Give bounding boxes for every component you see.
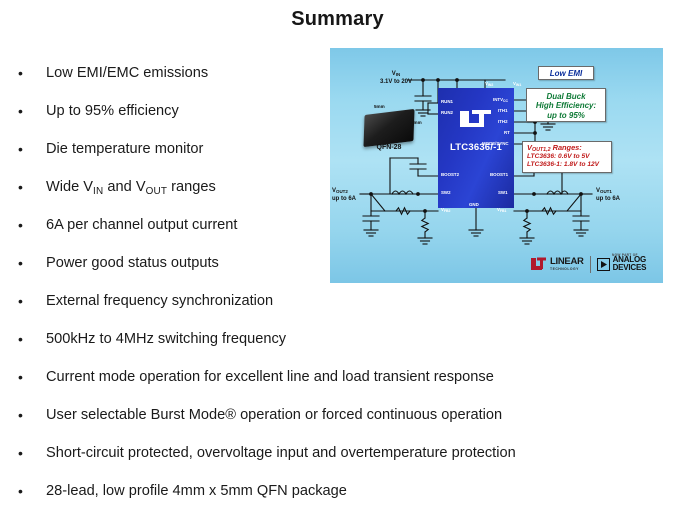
net-label-vout2: VOUT2 up to 6A	[332, 188, 364, 203]
pin-label-sw1: SW1	[498, 190, 508, 195]
adi-now-part-of-text: NOW PART OF	[612, 253, 638, 257]
list-item: • 28-lead, low profile 4mm x 5mm QFN pac…	[14, 472, 662, 510]
callout-efficiency: Dual Buck High Efficiency: up to 95%	[526, 88, 606, 122]
bullet-marker-icon: •	[14, 472, 46, 510]
pin-label-intvcc: INTVCC	[493, 97, 508, 102]
brand-logo-strip: LINEAR TECHNOLOGY ANALOG DEVICES NOW PAR…	[530, 252, 655, 276]
net-label-vout1: VOUT1 up to 6A	[596, 188, 636, 203]
lt-mark-icon	[530, 257, 547, 271]
pin-label-vin2: VIN2	[485, 81, 493, 86]
pin-label-gnd: GND	[469, 202, 479, 207]
callout-low-emi: Low EMI	[538, 66, 594, 80]
pin-label-run1: RUN1	[441, 99, 453, 104]
bullet-marker-icon: •	[14, 168, 46, 206]
bullet-marker-icon: •	[14, 396, 46, 434]
net-label-vout1-current: up to 6A	[596, 196, 636, 204]
adi-wordmark: ANALOG DEVICES	[613, 256, 647, 272]
linear-technology-logo: LINEAR TECHNOLOGY	[530, 257, 584, 271]
pin-label-mode-sync: MODE/SYNC	[482, 141, 509, 146]
callout-ranges-line2: LTC3636-1: 1.8V to 12V	[527, 161, 611, 169]
list-item-label: Current mode operation for excellent lin…	[46, 358, 494, 396]
callout-ranges-title: VOUT1,2 Ranges:	[527, 144, 611, 153]
list-item-label: 6A per channel output current	[46, 206, 237, 244]
product-application-diagram: 5mm 4mm QFN-28 LTC3636/-1 VIN2 VIN1 RUN1…	[330, 48, 663, 283]
list-item: • Current mode operation for excellent l…	[14, 358, 662, 396]
bullet-marker-icon: •	[14, 358, 46, 396]
net-label-vin-range: 3.1V to 20V	[368, 79, 424, 87]
net-label-vout2-current: up to 6A	[332, 196, 364, 204]
list-item: • External frequency synchronization	[14, 282, 662, 320]
pin-label-sw2: SW2	[441, 190, 451, 195]
callout-efficiency-line2: High Efficiency:	[527, 101, 605, 110]
logo-divider	[590, 256, 591, 273]
net-label-vin: VIN 3.1V to 20V	[368, 71, 424, 86]
pin-label-vin1: VIN1	[513, 81, 521, 86]
pin-label-boost1: BOOST1	[490, 172, 508, 177]
pin-label-ith2: ITH2	[498, 119, 508, 124]
bullet-marker-icon: •	[14, 320, 46, 358]
list-item-label: Short-circuit protected, overvoltage inp…	[46, 434, 516, 472]
list-item-label: User selectable Burst Mode® operation or…	[46, 396, 502, 434]
bullet-marker-icon: •	[14, 244, 46, 282]
list-item-label: Up to 95% efficiency	[46, 92, 179, 130]
qfn-package-photo: 5mm 4mm QFN-28	[358, 104, 420, 150]
page-title: Summary	[0, 8, 675, 31]
callout-efficiency-line3: up to 95%	[527, 111, 605, 120]
list-item-label: Low EMI/EMC emissions	[46, 54, 208, 92]
adi-wordmark-line2: DEVICES	[613, 264, 647, 272]
package-width-dimension: 5mm	[374, 104, 385, 109]
pin-label-vfb1: VFB1	[497, 207, 506, 212]
bullet-marker-icon: •	[14, 206, 46, 244]
list-item-label: Die temperature monitor	[46, 130, 203, 168]
list-item-label: External frequency synchronization	[46, 282, 273, 320]
list-item-label: 500kHz to 4MHz switching frequency	[46, 320, 286, 358]
callout-ranges-line1: LTC3636: 0.6V to 5V	[527, 153, 611, 161]
callout-vout-ranges: VOUT1,2 Ranges: LTC3636: 0.6V to 5V LTC3…	[522, 141, 612, 173]
list-item: • Short-circuit protected, overvoltage i…	[14, 434, 662, 472]
package-label: QFN-28	[358, 144, 420, 151]
list-item: • User selectable Burst Mode® operation …	[14, 396, 662, 434]
list-item: • 500kHz to 4MHz switching frequency	[14, 320, 662, 358]
qfn-package-body	[363, 109, 414, 147]
bullet-marker-icon: •	[14, 54, 46, 92]
pin-label-boost2: BOOST2	[441, 172, 459, 177]
linear-technology-subtext: TECHNOLOGY	[550, 267, 584, 271]
callout-efficiency-line1: Dual Buck	[527, 92, 605, 101]
pin-label-rt: RT	[504, 130, 510, 135]
list-item-label: Power good status outputs	[46, 244, 219, 282]
pin-label-run2: RUN2	[441, 110, 453, 115]
bullet-marker-icon: •	[14, 282, 46, 320]
bullet-marker-icon: •	[14, 434, 46, 472]
adi-triangle-icon	[597, 258, 610, 271]
pin-label-ith1: ITH1	[498, 108, 508, 113]
list-item-label: Wide VIN and VOUT ranges	[46, 168, 216, 208]
list-item-label: 28-lead, low profile 4mm x 5mm QFN packa…	[46, 472, 347, 510]
pin-label-vfb2: VFB2	[441, 207, 450, 212]
analog-devices-logo: ANALOG DEVICES	[597, 256, 647, 272]
bullet-marker-icon: •	[14, 130, 46, 168]
linear-technology-lt-icon	[458, 108, 494, 130]
bullet-marker-icon: •	[14, 92, 46, 130]
linear-wordmark: LINEAR	[550, 257, 584, 267]
